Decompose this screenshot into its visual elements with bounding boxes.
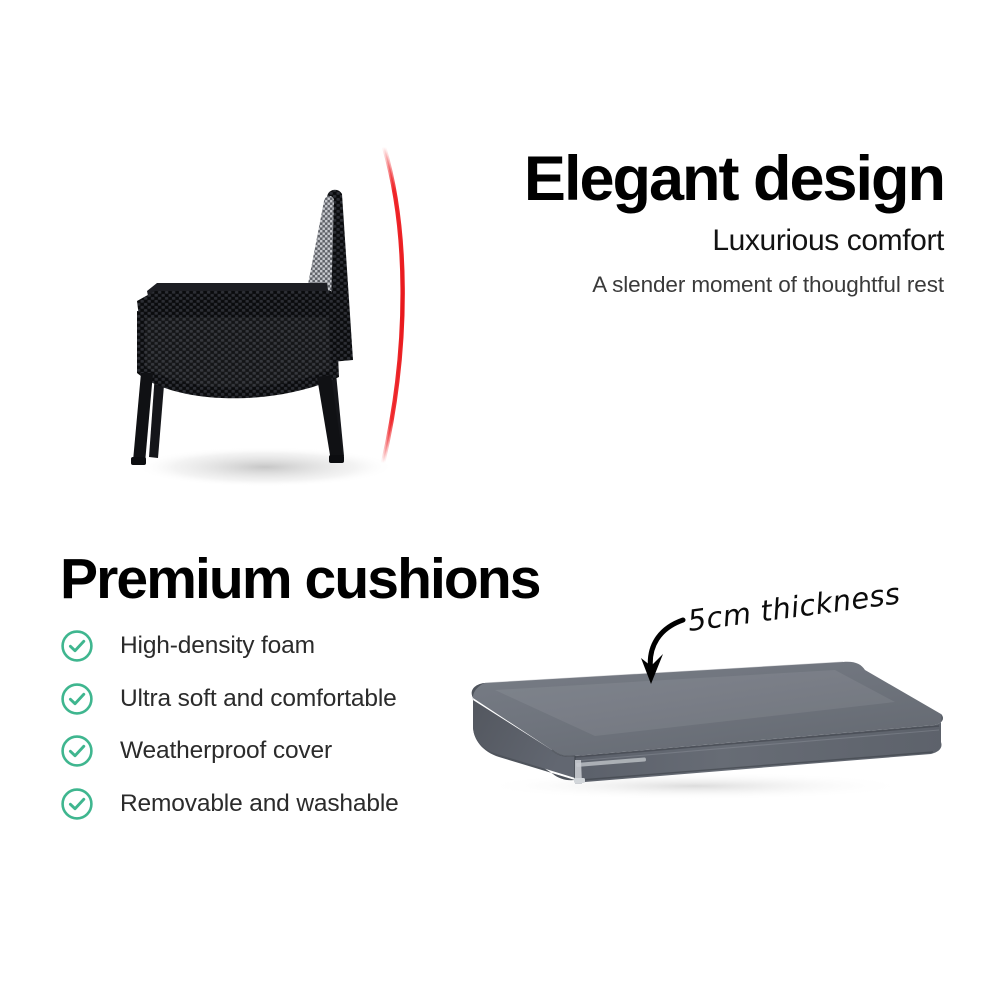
chair-product-image: [95, 105, 445, 495]
hero-text-block: Elegant design Luxurious comfort A slend…: [474, 148, 944, 299]
list-item: Ultra soft and comfortable: [60, 673, 460, 726]
feature-list: High-density foam Ultra soft and comfort…: [60, 620, 460, 830]
hero-subtitle: Luxurious comfort: [474, 225, 944, 257]
product-marketing-image: Elegant design Luxurious comfort A slend…: [0, 0, 1000, 1000]
cushion-shadow: [480, 772, 910, 800]
check-circle-icon: [60, 787, 94, 821]
chair-foot-right: [329, 455, 344, 463]
feature-label: Removable and washable: [120, 790, 399, 818]
feature-label: High-density foam: [120, 632, 315, 660]
list-item: Removable and washable: [60, 778, 460, 831]
chair-foot-left: [131, 457, 146, 465]
page-title: Elegant design: [474, 148, 944, 211]
list-item: High-density foam: [60, 620, 460, 673]
list-item: Weatherproof cover: [60, 725, 460, 778]
check-circle-icon: [60, 734, 94, 768]
check-circle-icon: [60, 682, 94, 716]
cushion-zipper-slider: [574, 778, 585, 783]
feature-label: Ultra soft and comfortable: [120, 685, 397, 713]
hero-tagline: A slender moment of thoughtful rest: [474, 271, 944, 300]
chair-body-sheen: [145, 317, 331, 388]
chair-illustration: [95, 105, 445, 495]
check-circle-icon: [60, 629, 94, 663]
chair-floor-shadow: [135, 447, 395, 487]
feature-label: Weatherproof cover: [120, 737, 332, 765]
